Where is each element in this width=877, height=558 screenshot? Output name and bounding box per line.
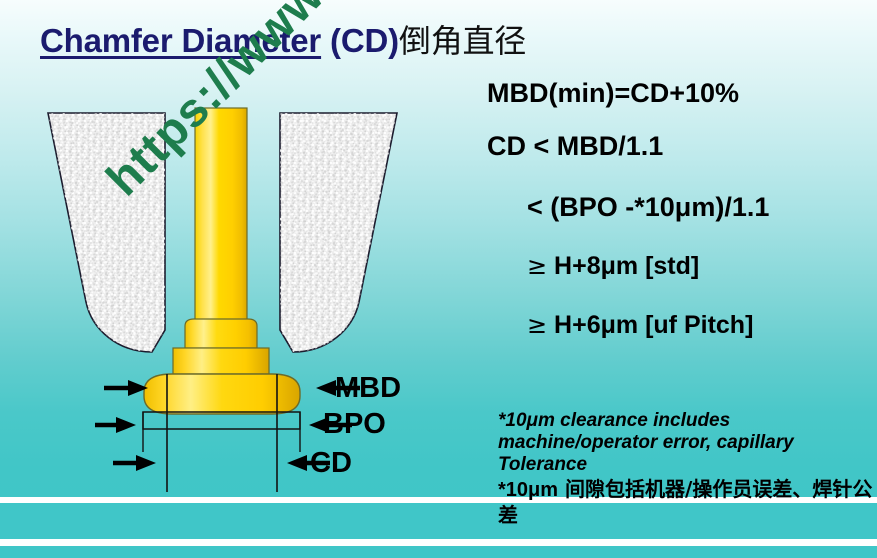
cd-dimension-arrows: [113, 455, 330, 471]
decorative-band-lower: [0, 539, 877, 546]
greater-equal-icon: ≥: [527, 252, 547, 280]
slide-canvas: Chamfer Diameter (CD)倒角直径: [0, 0, 877, 558]
footnote-english: *10μm clearance includes machine/operato…: [498, 410, 870, 476]
footnote-chinese-latin: *10μm: [498, 479, 558, 501]
wire-bond-cross-section-diagram: MBD BPO CD: [0, 0, 470, 500]
formula-cd-ge-ufpitch: ≥ H+6μm [uf Pitch]: [527, 311, 753, 340]
bpo-dimension-arrows: [95, 417, 352, 433]
diagram-label-bpo: BPO: [323, 408, 386, 441]
diagram-label-cd: CD: [310, 447, 352, 480]
diagram-label-mbd: MBD: [335, 372, 401, 405]
formula-cd-lt-bpo: < (BPO -*10μm)/1.1: [527, 192, 769, 223]
capillary-left: [48, 113, 165, 352]
greater-equal-icon-2: ≥: [527, 311, 547, 339]
footnote-chinese: *10μm 间隙包括机器/操作员误差、焊针公差: [498, 477, 877, 528]
formula-cd-lt-mbd: CD < MBD/1.1: [487, 131, 663, 162]
formula-cd-ge-ufpitch-text: H+6μm [uf Pitch]: [547, 311, 753, 339]
formula-cd-ge-std-text: H+8μm [std]: [547, 252, 699, 280]
capillary-right: [280, 113, 397, 352]
ball-neck: [185, 319, 257, 348]
formula-mbd-min: MBD(min)=CD+10%: [487, 78, 739, 109]
diagram-svg: [0, 0, 470, 500]
bond-wire: [195, 108, 247, 326]
formula-cd-ge-std: ≥ H+8μm [std]: [527, 252, 699, 281]
ball-middle-step: [173, 348, 269, 374]
